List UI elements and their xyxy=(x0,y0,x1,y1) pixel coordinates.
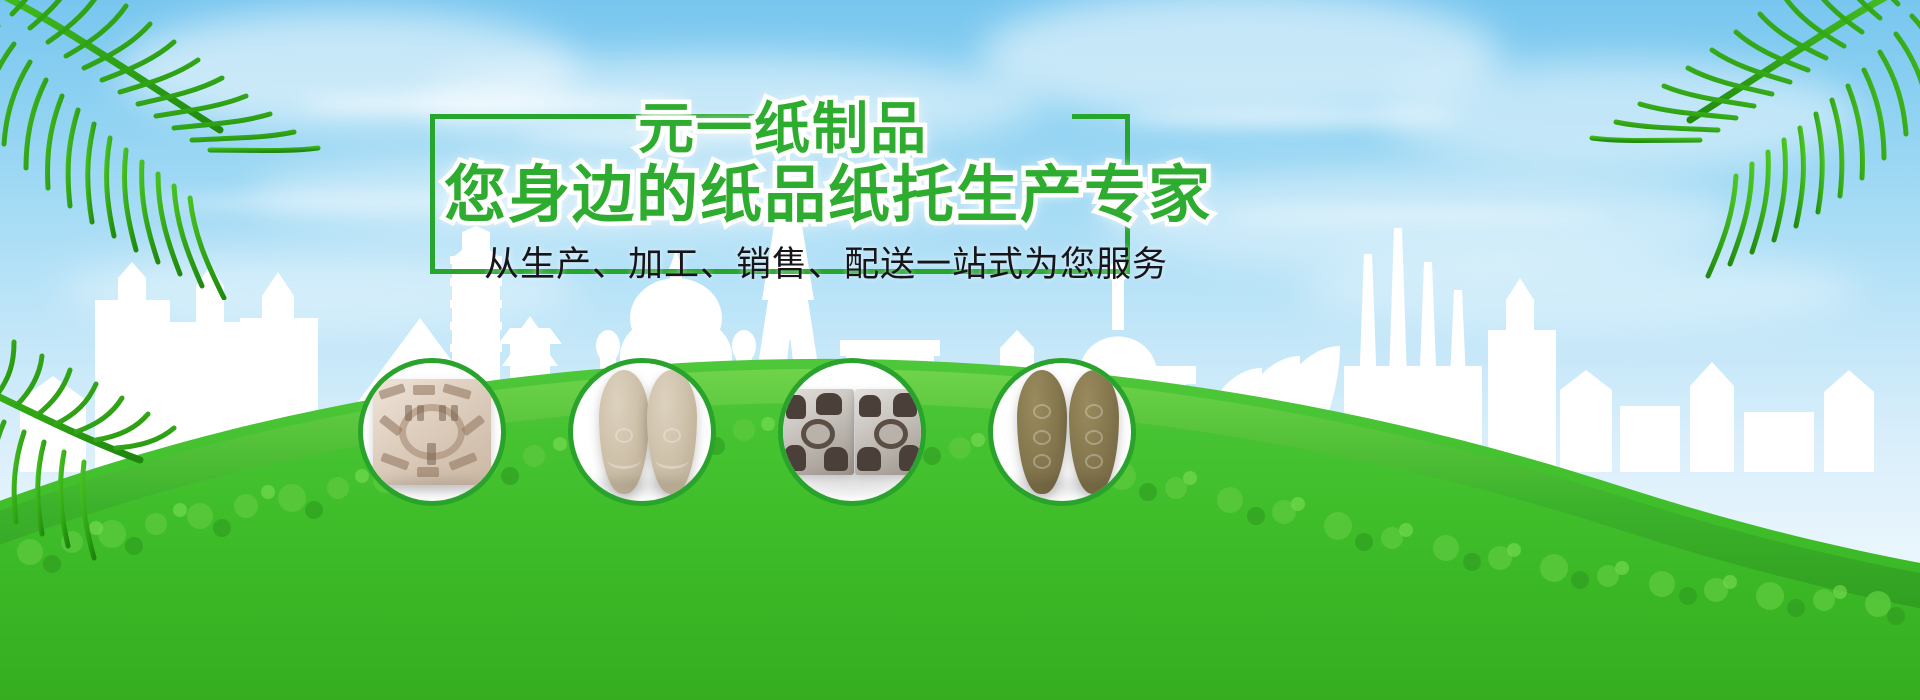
product-shadow xyxy=(588,479,696,493)
banner-subtitle: 从生产、加工、销售、配送一站式为您服务 xyxy=(484,236,1168,287)
promo-banner: 元一纸制品 您身边的纸品纸托生产专家 从生产、加工、销售、配送一站式为您服务 xyxy=(0,0,1920,700)
palm-frond-top-right xyxy=(1510,0,1920,290)
product-shadow xyxy=(798,479,906,493)
palm-frond-top-left xyxy=(0,0,380,300)
product-circle-paper-pulp-shoe-tree-dark[interactable] xyxy=(988,358,1136,506)
molded-pulp-tray-gray-left xyxy=(782,389,854,475)
molded-pulp-tray-gray-right xyxy=(855,389,926,475)
pulp-shoe-right-dark xyxy=(1069,370,1119,494)
headline-frame-top-right-rule xyxy=(1072,114,1130,119)
product-circle-paper-pulp-shoe-tree-light[interactable] xyxy=(568,358,716,506)
molded-pulp-square-tray xyxy=(373,379,491,485)
product-shadow xyxy=(1008,479,1116,493)
pulp-shoe-left-light xyxy=(599,370,649,494)
grass-hedge xyxy=(0,280,1920,700)
palm-frond-bottom-left xyxy=(0,330,230,630)
pulp-shoe-left-dark xyxy=(1017,370,1067,494)
product-circle-molded-pulp-square-tray[interactable] xyxy=(358,358,506,506)
headline-line-2: 您身边的纸品纸托生产专家 xyxy=(444,144,1212,234)
product-circle-molded-pulp-tray-pair-gray[interactable] xyxy=(778,358,926,506)
product-shadow xyxy=(378,479,486,493)
pulp-shoe-right-light xyxy=(647,370,697,494)
